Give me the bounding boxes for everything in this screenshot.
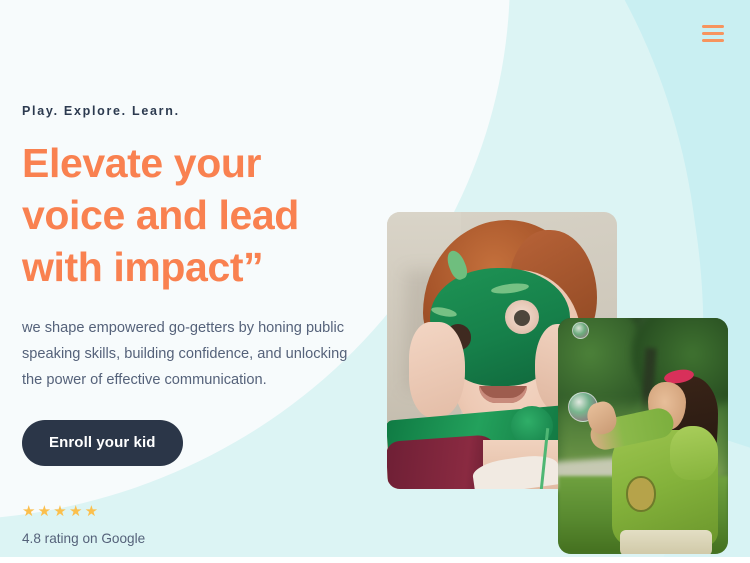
site-header xyxy=(0,0,750,66)
menu-bar-top xyxy=(702,25,724,28)
headline-line-3: with impact” xyxy=(22,241,392,293)
photo-coat-hood xyxy=(670,426,718,480)
star-rating-icons: ★★★★★ xyxy=(22,504,392,519)
headline-line-1: Elevate your xyxy=(22,137,392,189)
hero-headline: Elevate your voice and lead with impact” xyxy=(22,137,392,293)
menu-bar-middle xyxy=(702,32,724,35)
background-bottom-strip xyxy=(0,557,750,563)
hamburger-menu-icon[interactable] xyxy=(702,20,728,46)
hero-content: Play. Explore. Learn. Elevate your voice… xyxy=(22,104,392,546)
photo-bubble-small xyxy=(572,322,589,339)
photo-eye-pupil xyxy=(514,310,530,326)
hero-landing-page: Play. Explore. Learn. Elevate your voice… xyxy=(0,0,750,563)
photo-hand-left xyxy=(409,322,465,418)
menu-bar-bottom xyxy=(702,39,724,42)
headline-line-2: voice and lead xyxy=(22,189,392,241)
rating-label: 4.8 rating on Google xyxy=(22,531,392,546)
photo-coat-patch xyxy=(626,476,656,512)
hero-paragraph: we shape empowered go-getters by honing … xyxy=(22,315,370,393)
enroll-your-kid-button[interactable]: Enroll your kid xyxy=(22,420,183,466)
hero-eyebrow: Play. Explore. Learn. xyxy=(22,104,392,118)
girl-catching-bubble-photo xyxy=(558,318,728,554)
photo-girl-skirt xyxy=(620,530,712,554)
rating-block: ★★★★★ 4.8 rating on Google xyxy=(22,504,392,546)
